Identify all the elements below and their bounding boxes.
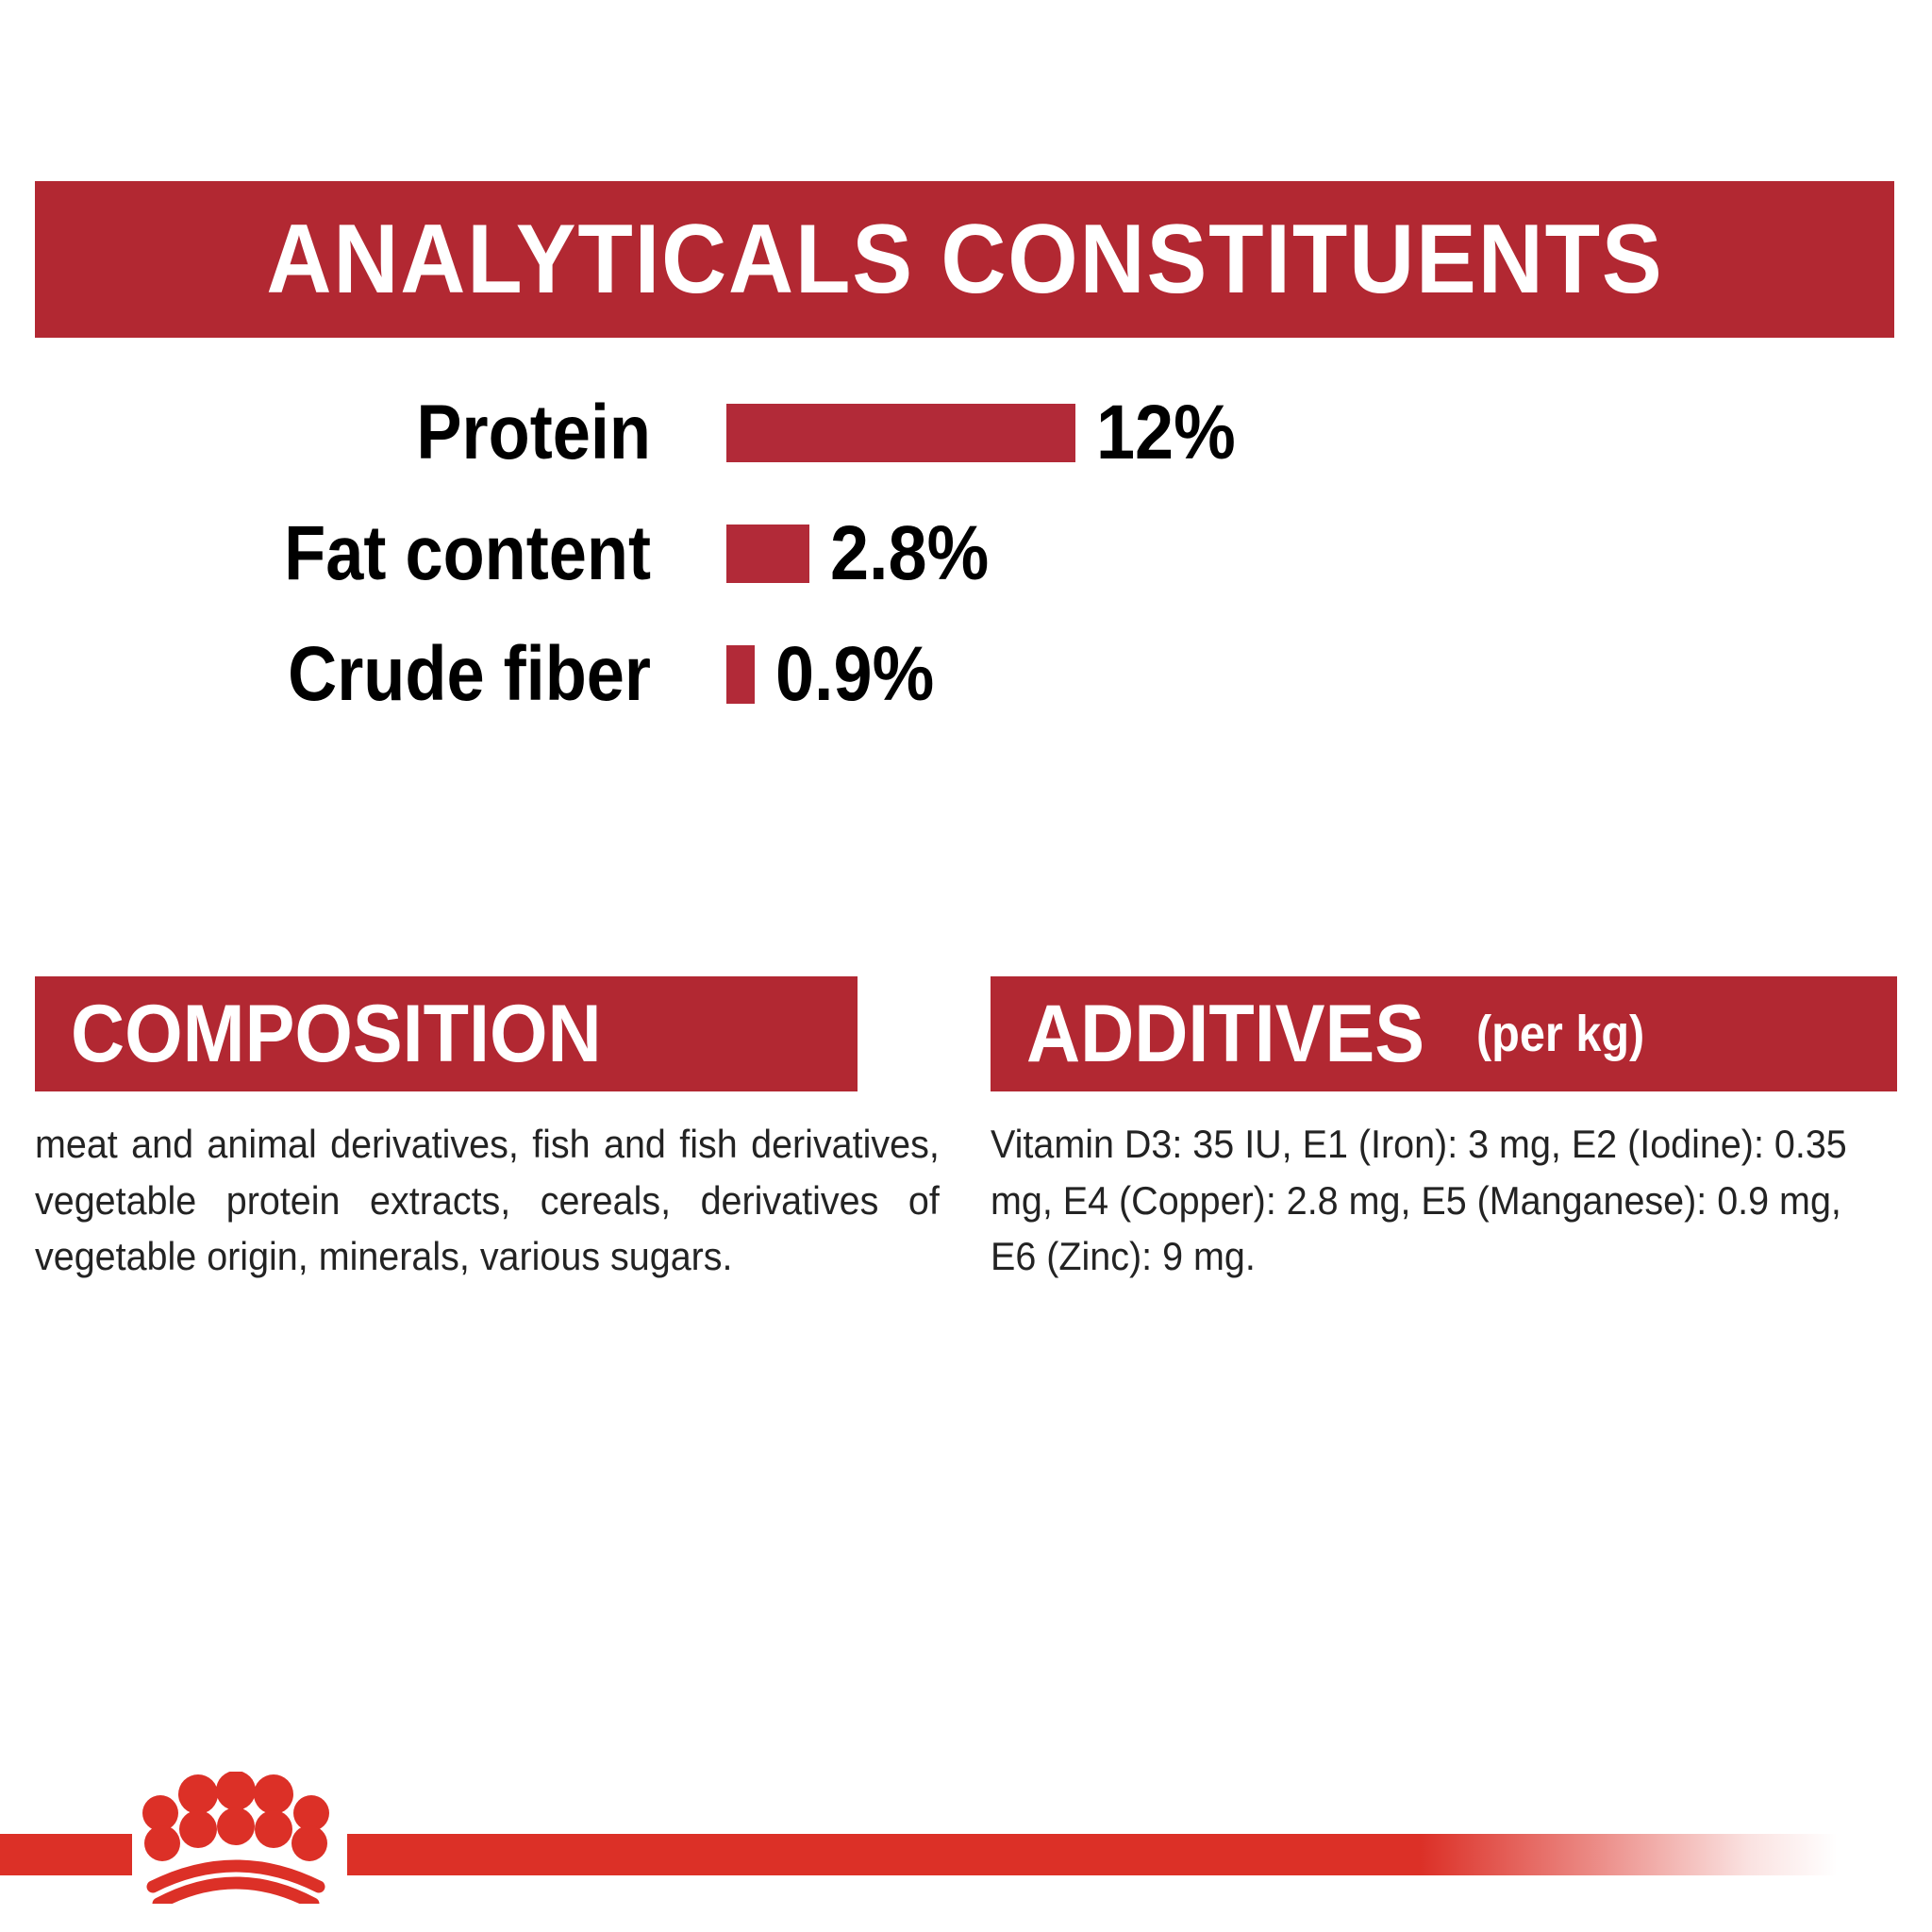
composition-body-text: meat and animal derivatives, fish and fi… <box>35 1116 940 1285</box>
constituent-row-fat-content: Fat content 2.8% <box>0 493 1321 614</box>
constituent-row-crude-fiber: Crude fiber 0.9% <box>0 614 1321 735</box>
constituent-value-protein: 12% <box>1096 394 1236 472</box>
constituent-bar-group-crude-fiber: 0.9% <box>726 636 952 713</box>
additives-body-text: Vitamin D3: 35 IU, E1 (Iron): 3 mg, E2 (… <box>991 1116 1895 1285</box>
additives-section: ADDITIVES (per kg) Vitamin D3: 35 IU, E1… <box>991 976 1897 1285</box>
royal-canin-crown-icon <box>125 1772 347 1904</box>
constituent-bar-fat-content <box>726 525 809 583</box>
constituent-label-protein: Protein <box>78 394 651 472</box>
constituent-value-fat-content: 2.8% <box>830 515 989 592</box>
constituent-bar-group-fat-content: 2.8% <box>726 515 1007 592</box>
composition-heading: COMPOSITION <box>71 993 602 1074</box>
constituent-bar-group-protein: 12% <box>726 394 1251 472</box>
additives-subheading: (per kg) <box>1476 1008 1644 1059</box>
constituent-row-protein: Protein 12% <box>0 373 1321 493</box>
constituent-bar-protein <box>726 404 1075 462</box>
info-sections: COMPOSITION meat and animal derivatives,… <box>35 976 1896 1285</box>
constituent-label-fat-content: Fat content <box>78 515 651 592</box>
constituent-value-crude-fiber: 0.9% <box>775 636 934 713</box>
constituents-chart: Protein 12% Fat content 2.8% Crude fiber… <box>0 373 1321 735</box>
footer-stripe-right <box>347 1834 1838 1875</box>
analyticals-constituents-banner: ANALYTICALS CONSTITUENTS <box>35 181 1894 338</box>
composition-header: COMPOSITION <box>35 976 858 1091</box>
composition-section: COMPOSITION meat and animal derivatives,… <box>35 976 941 1285</box>
constituent-bar-crude-fiber <box>726 645 755 704</box>
constituent-label-crude-fiber: Crude fiber <box>78 636 651 713</box>
additives-heading: ADDITIVES <box>1026 993 1424 1074</box>
additives-header: ADDITIVES (per kg) <box>991 976 1897 1091</box>
page-title: ANALYTICALS CONSTITUENTS <box>266 210 1663 308</box>
footer-stripe-left <box>0 1834 132 1875</box>
